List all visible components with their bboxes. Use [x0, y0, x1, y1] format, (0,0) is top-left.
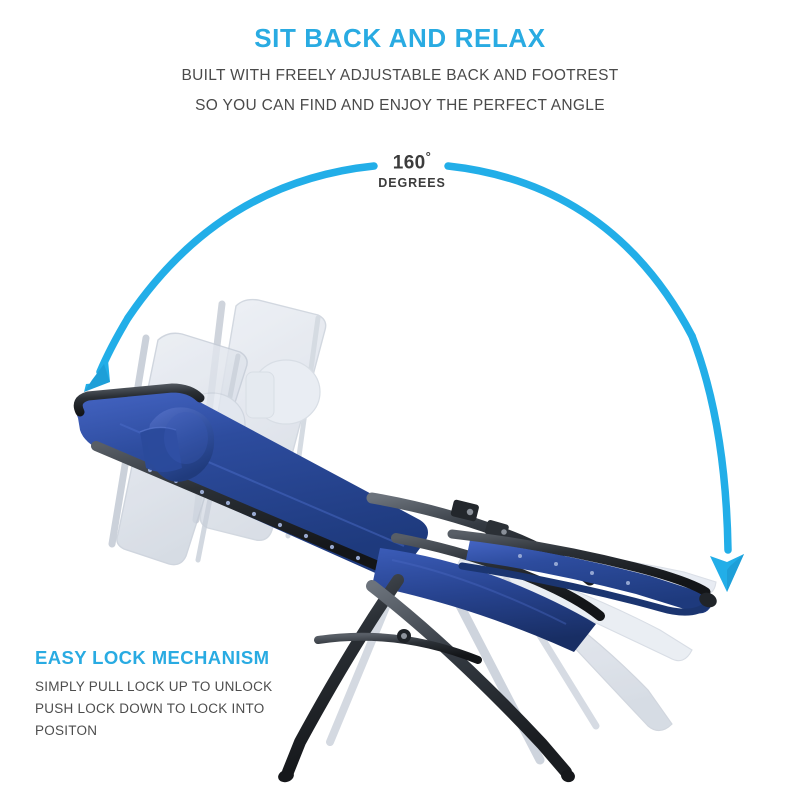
feature-title: EASY LOCK MECHANISM [35, 648, 335, 668]
feature-line: PUSH LOCK DOWN TO LOCK INTO [35, 698, 335, 720]
angle-annotation: 160° DEGREES [340, 150, 484, 190]
degree-sign-icon: ° [426, 149, 432, 164]
angle-unit-label: DEGREES [340, 177, 484, 190]
infographic-canvas: SIT BACK AND RELAX BUILT WITH FREELY ADJ… [0, 0, 800, 800]
feature-line: POSITON [35, 720, 335, 742]
feature-description-list: SIMPLY PULL LOCK UP TO UNLOCK PUSH LOCK … [35, 668, 335, 742]
angle-value-row: 160° [340, 150, 484, 172]
angle-value: 160 [393, 152, 426, 173]
feature-callout: EASY LOCK MECHANISM SIMPLY PULL LOCK UP … [35, 648, 335, 742]
feature-line: SIMPLY PULL LOCK UP TO UNLOCK [35, 668, 335, 698]
